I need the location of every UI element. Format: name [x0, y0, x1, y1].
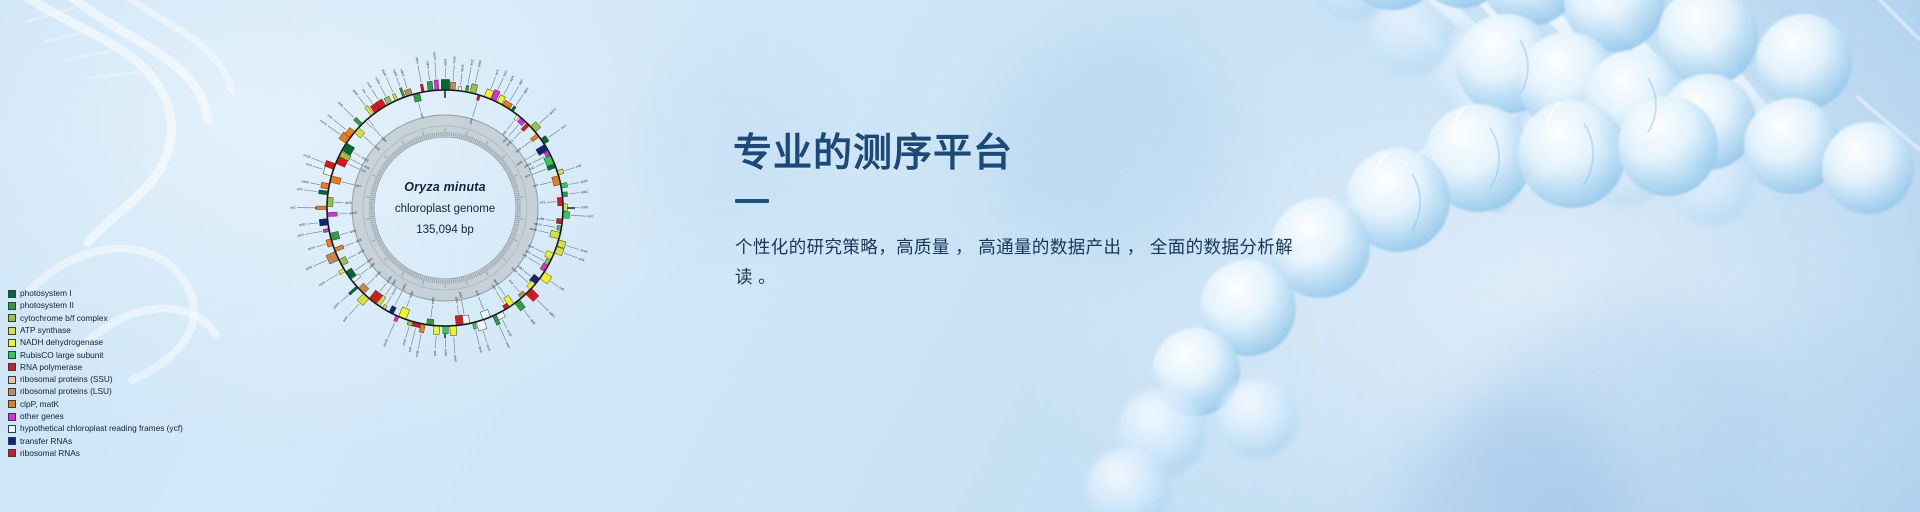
genome-feature — [564, 204, 568, 211]
legend-item-label: photosystem I — [20, 289, 72, 298]
sequencing-platform-banner: psbAmatKrps16trnQpsbKpsbItrnStrnGatpAatp… — [0, 0, 1920, 512]
genome-feature-label: rrn5 — [326, 113, 333, 120]
legend-item-label: RubisCO large subunit — [20, 351, 103, 360]
genome-feature-label: rpoC1 — [548, 107, 557, 116]
legend-item: other genes — [6, 411, 246, 422]
genome-feature-label: psbZ — [581, 205, 588, 209]
legend-color-swatch — [8, 425, 16, 433]
genome-feature-label: ycf2 — [297, 187, 303, 192]
legend-color-swatch — [8, 290, 16, 298]
genome-feature-label: ndhD — [374, 77, 381, 86]
genome-feature-label: trnS — [540, 200, 546, 204]
legend-item: RubisCO large subunit — [6, 349, 246, 360]
genome-feature — [394, 316, 399, 322]
genome-feature — [443, 327, 448, 334]
genome-feature-label: rpl32 — [352, 88, 360, 96]
legend-color-swatch — [8, 339, 16, 347]
genome-feature — [434, 80, 439, 90]
dna-ribbon-decoration — [90, 0, 270, 175]
legend-item: cytochrome b/f complex — [6, 313, 246, 324]
legend-color-swatch — [8, 388, 16, 396]
genome-feature — [420, 84, 424, 92]
legend-item: photosystem II — [6, 300, 246, 311]
genome-feature — [413, 93, 421, 102]
legend-color-swatch — [8, 327, 16, 335]
legend-item: photosystem I — [6, 288, 246, 299]
genome-feature-label: trnG — [587, 214, 594, 218]
genome-feature-label: rps15 — [432, 52, 437, 60]
genome-feature — [531, 122, 541, 132]
genome-feature-label: trnE — [575, 163, 582, 169]
genome-feature-label: psaJ — [401, 338, 407, 346]
genome-feature-label: trnC — [560, 123, 568, 130]
genome-feature — [458, 87, 461, 91]
genome-feature-label: ndhC — [548, 310, 557, 319]
legend-color-swatch — [8, 302, 16, 310]
genome-feature — [319, 190, 328, 195]
genome-feature-label: atpH — [522, 87, 529, 95]
legend-item: NADH dehydrogenase — [6, 337, 246, 348]
genome-feature-label: matK — [452, 55, 457, 63]
banner-copy: 专业的测序平台 个性化的研究策略，高质量 ， 高通量的数据产出 ， 全面的数据分… — [733, 133, 1373, 293]
genome-feature — [450, 82, 455, 90]
genome-feature — [328, 212, 338, 216]
genome-feature-label: rps16 — [460, 64, 465, 72]
legend-item: RNA polymerase — [6, 362, 246, 373]
legend-item: transfer RNAs — [6, 435, 246, 446]
genome-feature — [335, 245, 345, 252]
genome-feature-label: psbC — [581, 189, 589, 194]
genome-feature — [563, 212, 569, 219]
genome-feature-label: accD — [506, 329, 513, 338]
genome-feature — [316, 206, 326, 209]
legend-color-swatch — [8, 413, 16, 421]
genome-feature — [348, 286, 357, 295]
genome-feature-label: trnN — [337, 101, 344, 108]
genome-feature-label: trnfM — [537, 216, 545, 221]
genome-feature-label: psbT — [342, 315, 350, 323]
genome-feature-label: trnT — [533, 183, 539, 188]
genome-feature — [530, 134, 538, 142]
legend-color-swatch — [8, 400, 16, 408]
genome-feature — [472, 323, 476, 330]
genome-feature-label: atpF — [518, 78, 525, 85]
legend-item-label: hypothetical chloroplast reading frames … — [20, 424, 183, 433]
genome-feature-label: trnV — [508, 279, 515, 287]
genome-feature-label: psbA — [443, 58, 447, 66]
legend-item: clpP, matK — [6, 399, 246, 410]
genome-feature-label: atpA — [509, 74, 516, 82]
legend-item-label: cytochrome b/f complex — [20, 314, 108, 323]
genome-feature-label: rps19 — [349, 211, 357, 215]
genome-feature-label: ycf3 — [578, 257, 585, 263]
genome-feature — [511, 106, 516, 111]
genome-legend: photosystem Iphotosystem IIcytochrome b/… — [6, 288, 246, 460]
genome-feature — [563, 192, 568, 197]
page-title: 专业的测序平台 — [733, 133, 1373, 174]
genome-feature — [328, 197, 334, 206]
legend-color-swatch — [8, 437, 16, 445]
legend-item-label: ribosomal proteins (LSU) — [20, 387, 112, 396]
genome-feature-label: rrn16 — [303, 153, 311, 159]
genome-feature-label: petG — [431, 296, 436, 304]
legend-item: ribosomal proteins (SSU) — [6, 374, 246, 385]
legend-item: ATP synthase — [6, 325, 246, 336]
genome-feature-label: rpl14 — [307, 245, 315, 251]
banner-description: 个性化的研究策略，高质量 ， 高通量的数据产出 ， 全面的数据分析解读 。 — [735, 232, 1295, 292]
genome-feature-label: ccsA — [366, 81, 373, 90]
genome-feature — [392, 93, 397, 100]
genome-feature-label: rps3 — [297, 233, 304, 238]
legend-item-label: transfer RNAs — [20, 437, 72, 446]
genome-feature-label: rpl2 — [291, 206, 296, 210]
genome-feature — [330, 231, 340, 240]
genome-feature-label: rrn4.5 — [319, 119, 328, 127]
legend-item-label: RNA polymerase — [20, 363, 82, 372]
genome-feature — [433, 326, 439, 335]
genome-feature-label: psbD — [580, 179, 589, 184]
genome-feature — [503, 100, 512, 108]
legend-item-label: ATP synthase — [20, 326, 71, 335]
genome-feature-label: trnL — [361, 88, 367, 95]
genome-feature — [399, 88, 404, 98]
genome-feature — [550, 230, 560, 238]
genome-feature-label: rpl22 — [299, 222, 307, 227]
legend-item-label: clpP, matK — [20, 400, 59, 409]
genome-feature — [557, 197, 562, 205]
genome-feature-label: ndhH — [425, 61, 430, 69]
genome-feature-label: rpl23 — [345, 201, 352, 205]
legend-item-label: NADH dehydrogenase — [20, 338, 103, 347]
genome-feature — [353, 117, 362, 126]
genome-feature — [557, 225, 561, 230]
genome-feature — [330, 176, 341, 184]
chloroplast-genome-map: psbAmatKrps16trnQpsbKpsbItrnStrnGatpAatp… — [245, 8, 645, 408]
genome-feature-label: trnS — [494, 69, 500, 76]
genome-feature-label: ndhA — [414, 56, 419, 65]
legend-color-swatch — [8, 314, 16, 322]
genome-feature-label: psaC — [381, 69, 388, 78]
genome-feature — [366, 119, 373, 127]
genome-feature-label: trnQ — [469, 59, 474, 66]
genome-feature-label: trnG — [502, 69, 508, 77]
legend-item: ribosomal proteins (LSU) — [6, 386, 246, 397]
genome-feature-label: psbF — [453, 355, 457, 362]
genome-feature-label: trnP — [408, 346, 413, 352]
genome-feature-label: psaA — [580, 248, 589, 254]
genome-feature — [455, 315, 463, 325]
genome-feature-label: trnW — [415, 350, 420, 357]
legend-item-label: ribosomal proteins (SSU) — [20, 375, 113, 384]
genome-feature — [514, 115, 519, 120]
legend-item-label: other genes — [20, 412, 64, 421]
genome-feature — [470, 84, 478, 94]
genome-feature — [321, 182, 329, 189]
legend-item: hypothetical chloroplast reading frames … — [6, 423, 246, 434]
legend-item-label: photosystem II — [20, 301, 74, 310]
genome-feature-label: rps12 — [390, 287, 398, 296]
genome-feature — [323, 228, 329, 232]
legend-color-swatch — [8, 351, 16, 359]
genome-feature-label: ndhB — [301, 179, 309, 184]
genome-feature-label: ndhG — [399, 69, 405, 78]
genome-feature-label: trnV — [306, 162, 314, 168]
genome-feature — [450, 326, 457, 336]
legend-color-swatch — [8, 449, 16, 457]
genome-feature — [319, 219, 327, 226]
genome-feature — [427, 81, 433, 90]
dna-ribbon-decoration — [0, 0, 270, 310]
genome-feature-label: rpl36 — [305, 265, 313, 272]
genome-feature — [441, 79, 449, 89]
genome-feature-label: petA — [478, 346, 484, 354]
genome-feature — [476, 95, 480, 100]
genome-feature — [427, 319, 434, 325]
genome-feature-label: petL — [433, 349, 437, 356]
genome-feature-label: psbK — [477, 59, 483, 68]
genome-feature — [465, 85, 469, 91]
genome-feature-label: rpoA — [318, 280, 326, 287]
genome-feature-label: psbL — [454, 297, 459, 304]
genome-feature — [558, 169, 565, 175]
genome-feature-label: trnF — [558, 286, 565, 292]
genome-feature-label: ndhE — [392, 69, 398, 77]
genome-map-svg: psbAmatKrps16trnQpsbKpsbItrnStrnGatpAatp… — [245, 8, 645, 408]
genome-feature-label: psbH — [332, 302, 340, 310]
genome-feature-label: atpE — [529, 318, 536, 325]
genome-feature-label: psaI — [505, 342, 511, 349]
genome-feature-label: atpI — [501, 129, 507, 136]
genome-feature — [556, 218, 562, 224]
genome-feature — [561, 182, 568, 188]
genome-feature-label: cemA — [485, 343, 491, 353]
legend-item: ribosomal RNAs — [6, 448, 246, 459]
genome-feature-label: rps18 — [382, 338, 389, 347]
legend-color-swatch — [8, 376, 16, 384]
genome-feature-label: psbE — [444, 349, 448, 356]
title-divider — [735, 199, 769, 203]
legend-color-swatch — [8, 363, 16, 371]
legend-item-label: ribosomal RNAs — [20, 449, 80, 458]
